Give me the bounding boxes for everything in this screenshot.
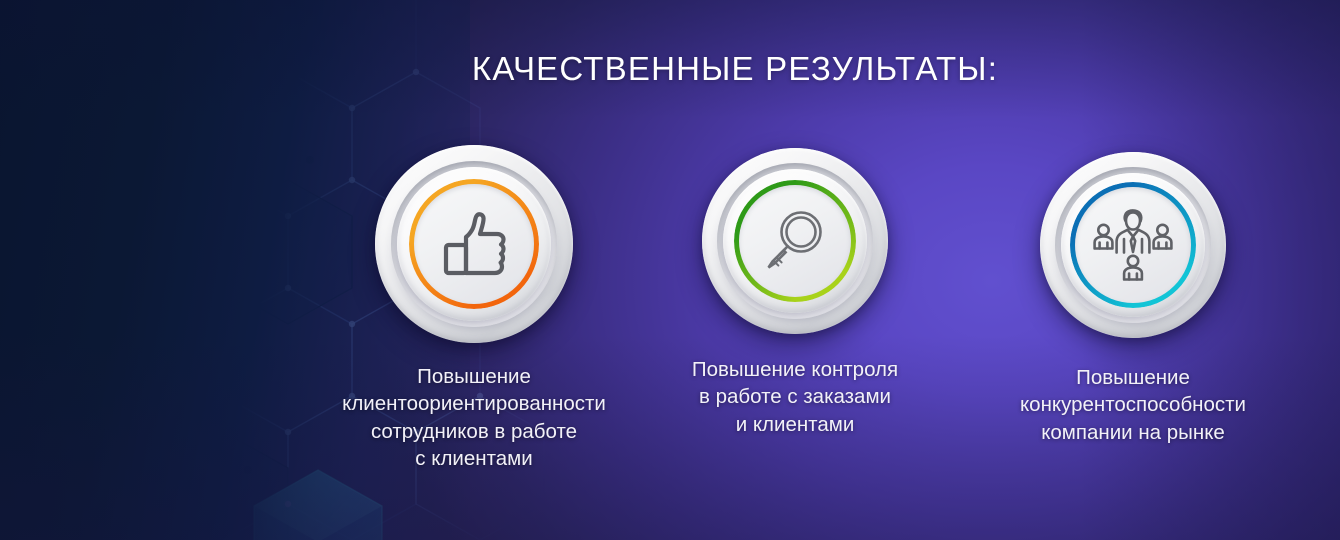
card-caption: Повышение контроля в работе с заказами и… <box>676 356 914 438</box>
slide-root: КАЧЕСТВЕННЫЕ РЕЗУЛЬТАТЫ: Повыш <box>0 0 1340 540</box>
knob-face <box>739 185 851 297</box>
icon-knob-order-control[interactable] <box>702 148 888 334</box>
icon-knob-customer-focus[interactable] <box>375 145 573 343</box>
icon-knob-market-competitiveness[interactable] <box>1040 152 1226 338</box>
knob-face <box>1075 187 1191 303</box>
card-caption: Повышение конкурентоспособности компании… <box>1004 364 1262 446</box>
card-caption: Повышение клиентоориентированности сотру… <box>315 363 633 472</box>
magnifier-icon <box>759 205 831 277</box>
thumbs-up-icon <box>438 211 510 277</box>
result-card-customer-focus[interactable]: Повышение клиентоориентированности сотру… <box>375 145 573 343</box>
result-card-market-competitiveness[interactable]: Повышение конкурентоспособности компании… <box>1040 152 1226 338</box>
knob-face <box>414 184 534 304</box>
result-card-order-control[interactable]: Повышение контроля в работе с заказами и… <box>702 148 888 334</box>
results-cards: Повышение клиентоориентированности сотру… <box>0 0 1340 540</box>
team-people-icon <box>1091 208 1175 282</box>
